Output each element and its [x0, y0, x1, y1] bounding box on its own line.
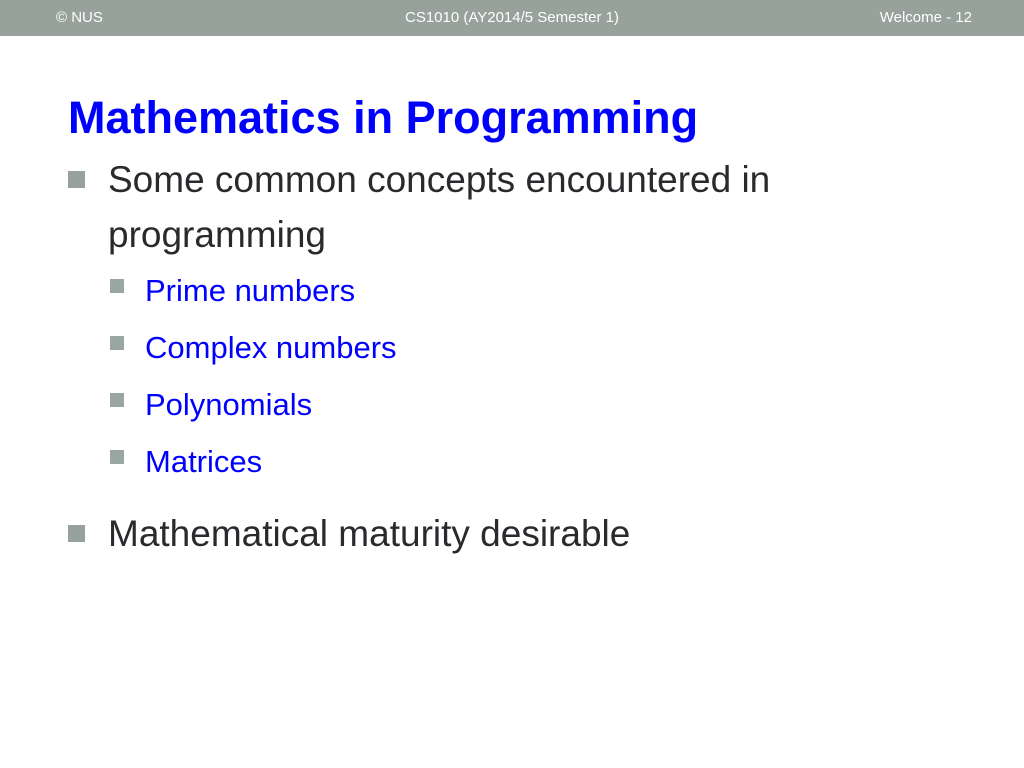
- bullet-text: Polynomials: [145, 376, 964, 433]
- bullet-item-level2: Complex numbers: [0, 319, 1024, 376]
- header-course-title: CS1010 (AY2014/5 Semester 1): [0, 0, 1024, 36]
- page-title: Mathematics in Programming: [68, 92, 968, 144]
- bullet-item-level2: Matrices: [0, 433, 1024, 490]
- spacer: [0, 490, 1024, 506]
- bullet-item-level1: Mathematical maturity desirable: [0, 506, 1024, 562]
- header-slide-number: Welcome - 12: [880, 0, 972, 36]
- square-bullet-icon: [110, 393, 124, 407]
- square-bullet-icon: [110, 450, 124, 464]
- bullet-item-level1: Some common concepts encountered in prog…: [0, 152, 1024, 262]
- bullet-text: Matrices: [145, 433, 964, 490]
- slide: © NUS CS1010 (AY2014/5 Semester 1) Welco…: [0, 0, 1024, 768]
- square-bullet-icon: [110, 336, 124, 350]
- square-bullet-icon: [110, 279, 124, 293]
- bullet-text: Some common concepts encountered in prog…: [108, 152, 964, 262]
- bullet-text: Complex numbers: [145, 319, 964, 376]
- slide-header-bar: © NUS CS1010 (AY2014/5 Semester 1) Welco…: [0, 0, 1024, 36]
- bullet-item-level2: Prime numbers: [0, 262, 1024, 319]
- bullet-item-level2: Polynomials: [0, 376, 1024, 433]
- bullet-text: Prime numbers: [145, 262, 964, 319]
- square-bullet-icon: [68, 525, 85, 542]
- square-bullet-icon: [68, 171, 85, 188]
- bullet-text: Mathematical maturity desirable: [108, 506, 964, 561]
- slide-body: Some common concepts encountered in prog…: [0, 152, 1024, 562]
